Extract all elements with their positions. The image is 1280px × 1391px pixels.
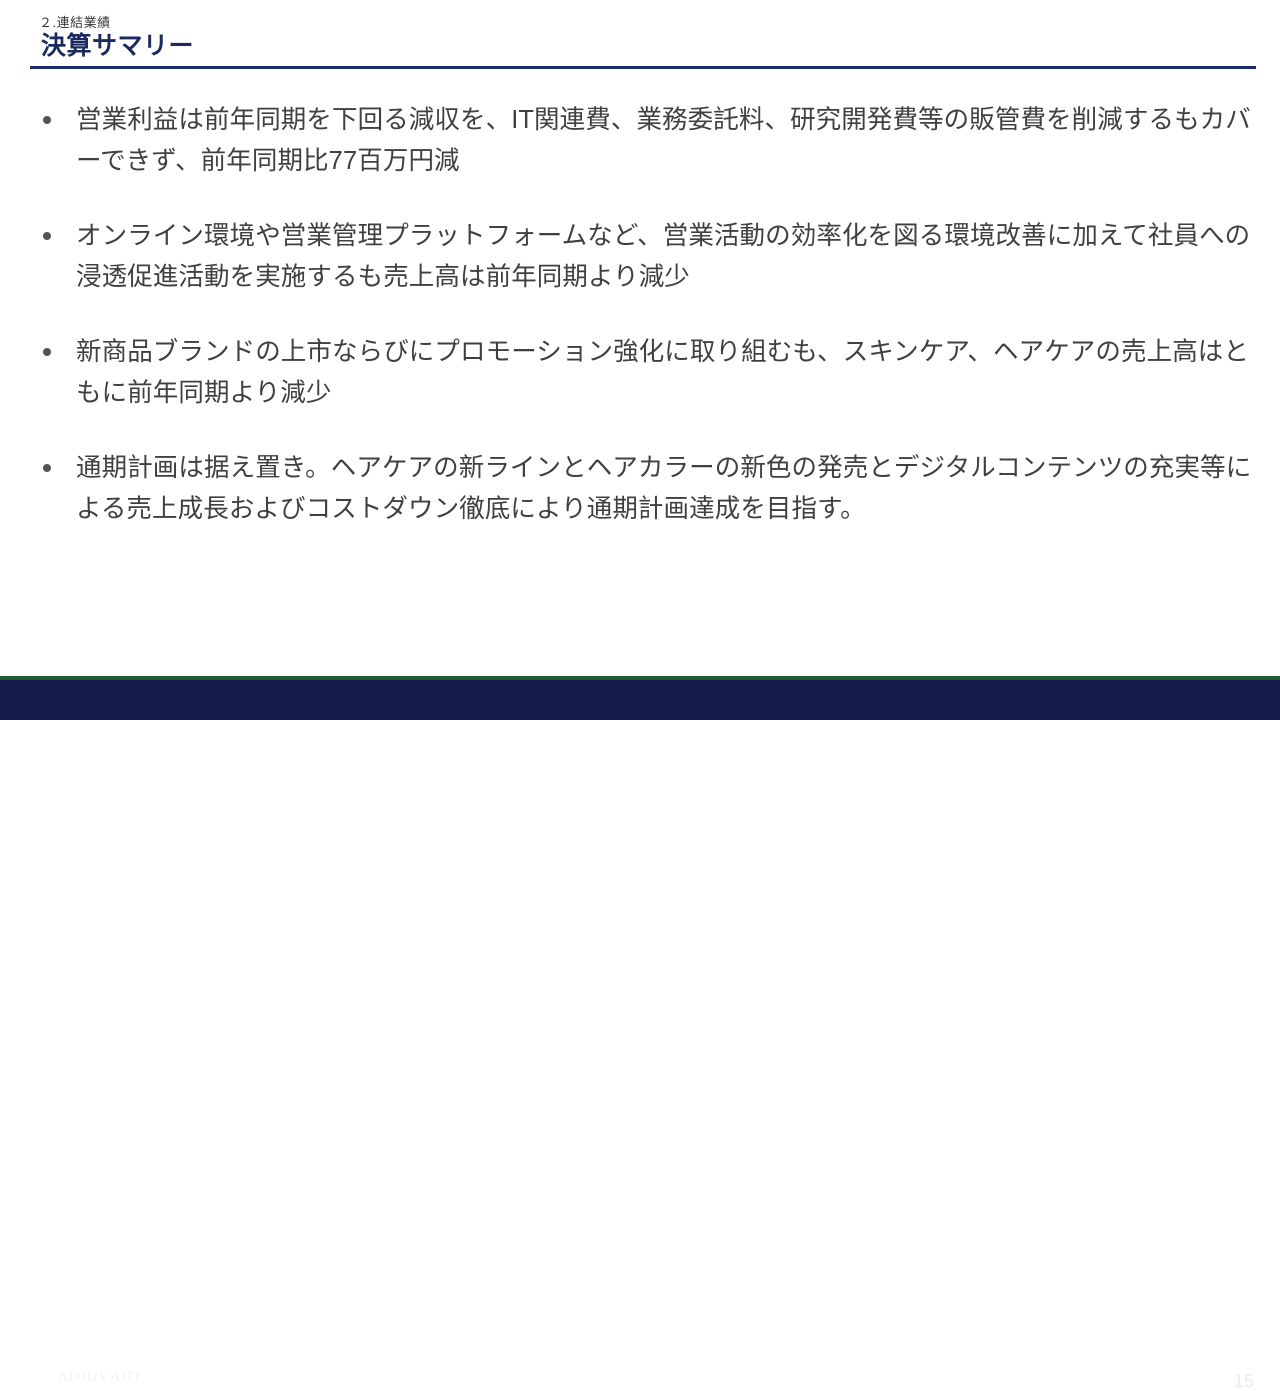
list-item: 新商品ブランドの上市ならびにプロモーション強化に取り組むも、スキンケア、ヘアケア… (0, 332, 1280, 414)
title-underline-rule (30, 66, 1256, 69)
list-item-text: 新商品ブランドの上市ならびにプロモーション強化に取り組むも、スキンケア、ヘアケア… (76, 332, 1258, 414)
list-item: オンライン環境や営業管理プラットフォームなど、営業活動の効率化を図る環境改善に加… (0, 216, 1280, 298)
bullet-dot-icon (43, 464, 51, 472)
document-title: 2026年3月期 中間期決算説明資料 (186, 1373, 393, 1389)
list-item: 営業利益は前年同期を下回る減収を、IT関連費、業務委託料、研究開発費等の販管費を… (0, 100, 1280, 182)
bullet-list: 営業利益は前年同期を下回る減収を、IT関連費、業務委託料、研究開発費等の販管費を… (0, 100, 1280, 660)
page-number: 15 (1234, 1371, 1254, 1391)
list-item: 通期計画は据え置き。ヘアケアの新ラインとヘアカラーの新色の発売とデジタルコンテン… (0, 448, 1280, 530)
bullet-dot-icon (43, 348, 51, 356)
slide: ２.連結業績 決算サマリー 営業利益は前年同期を下回る減収を、IT関連費、業務委… (0, 0, 1280, 720)
copyright-notice: © ADJUVANT Co., Ltd All right reserved. (955, 1374, 1175, 1388)
bullet-dot-icon (43, 232, 51, 240)
list-item-text: オンライン環境や営業管理プラットフォームなど、営業活動の効率化を図る環境改善に加… (76, 216, 1258, 298)
list-item-text: 通期計画は据え置き。ヘアケアの新ラインとヘアカラーの新色の発売とデジタルコンテン… (76, 448, 1258, 530)
company-logo-underline (44, 1387, 156, 1388)
slide-footer: ΛDJUVΛΠT 2026年3月期 中間期決算説明資料 © ADJUVANT C… (0, 680, 1280, 720)
slide-header: ２.連結業績 決算サマリー (0, 0, 1280, 70)
company-logo-text: ΛDJUVΛΠT (44, 1369, 156, 1385)
bullet-dot-icon (43, 116, 51, 124)
list-item-text: 営業利益は前年同期を下回る減収を、IT関連費、業務委託料、研究開発費等の販管費を… (76, 100, 1258, 182)
company-logo: ΛDJUVΛΠT (44, 1369, 156, 1388)
page-title: 決算サマリー (41, 30, 194, 62)
